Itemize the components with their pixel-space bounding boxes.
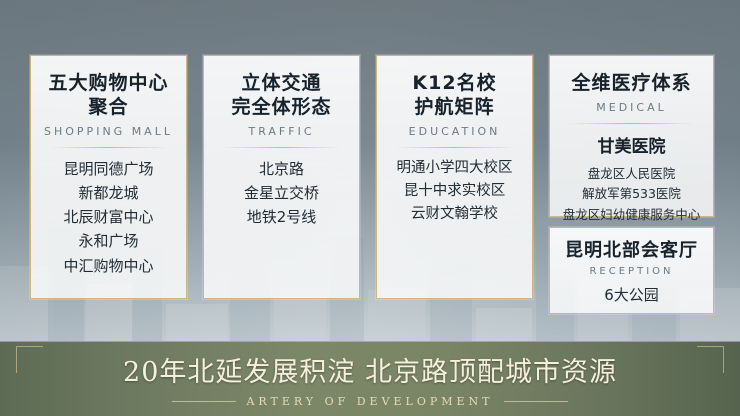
banner-headline: 20年北延发展积淀 北京路顶配城市资源 [123, 350, 617, 389]
card-subtitle-reception: RECEPTION [558, 266, 705, 277]
card-title-line1: 立体交通 [212, 72, 351, 96]
card-items-traffic: 北京路 金星立交桥 地铁2号线 [212, 157, 351, 230]
list-item: 永和广场 [39, 229, 178, 253]
list-item: 盘龙区妇幼健康服务中心 [558, 205, 705, 226]
card-title-line2: 聚合 [39, 96, 178, 120]
card-grid: 五大购物中心 聚合 SHOPPING MALL 昆明同德广场 新都龙城 北辰财富… [0, 0, 740, 345]
card-medical: 全维医疗体系 MEDICAL 甘美医院 盘龙区人民医院 解放军第533医院 盘龙… [549, 55, 714, 217]
list-item: 北辰财富中心 [39, 205, 178, 229]
list-item: 北京路 [212, 157, 351, 181]
card-title-education: K12名校 护航矩阵 [385, 72, 524, 120]
bottom-banner: 20年北延发展积淀 北京路顶配城市资源 ARTERY OF DEVELOPMEN… [0, 341, 740, 416]
list-item: 金星立交桥 [212, 181, 351, 205]
list-item: 昆十中求实校区 [385, 180, 524, 203]
card-subtitle-education: EDUCATION [385, 125, 524, 138]
card-divider [568, 123, 694, 124]
card-items-shopping-mall: 昆明同德广场 新都龙城 北辰财富中心 永和广场 中汇购物中心 [39, 157, 178, 278]
card-items-medical: 甘美医院 盘龙区人民医院 解放军第533医院 盘龙区妇幼健康服务中心 [558, 133, 705, 226]
card-title-line1: 全维医疗体系 [558, 72, 705, 96]
card-title-reception: 昆明北部会客厅 [558, 240, 705, 263]
card-subtitle-medical: MEDICAL [558, 101, 705, 114]
card-highlight-medical: 甘美医院 [558, 133, 705, 161]
card-subtitle-traffic: TRAFFIC [212, 125, 351, 138]
card-title-traffic: 立体交通 完全体形态 [212, 72, 351, 120]
list-item: 昆明同德广场 [39, 157, 178, 181]
list-item: 云财文翰学校 [385, 203, 524, 226]
banner-subtitle-row: ARTERY OF DEVELOPMENT [172, 395, 567, 408]
list-item: 地铁2号线 [212, 205, 351, 229]
list-item: 盘龙区人民医院 [558, 164, 705, 185]
card-items-reception: 6大公园 [558, 283, 705, 307]
banner-corner-left [16, 346, 43, 373]
card-subtitle-shopping-mall: SHOPPING MALL [39, 125, 178, 138]
card-divider [49, 147, 169, 148]
list-item: 中汇购物中心 [39, 254, 178, 278]
card-title-line1: 五大购物中心 [39, 72, 178, 96]
rule-right [504, 401, 568, 402]
card-shopping-mall: 五大购物中心 聚合 SHOPPING MALL 昆明同德广场 新都龙城 北辰财富… [30, 55, 187, 299]
card-divider [395, 147, 515, 148]
banner-subtitle: ARTERY OF DEVELOPMENT [246, 395, 493, 408]
card-traffic: 立体交通 完全体形态 TRAFFIC 北京路 金星立交桥 地铁2号线 [203, 55, 360, 299]
card-title-line1: K12名校 [385, 72, 524, 96]
card-title-line2: 护航矩阵 [385, 96, 524, 120]
card-title-medical: 全维医疗体系 [558, 72, 705, 96]
card-reception: 昆明北部会客厅 RECEPTION 6大公园 [549, 227, 714, 314]
card-items-education: 明通小学四大校区 昆十中求实校区 云财文翰学校 [385, 157, 524, 227]
rule-left [172, 401, 236, 402]
list-item: 明通小学四大校区 [385, 157, 524, 180]
list-item: 解放军第533医院 [558, 184, 705, 205]
list-item: 新都龙城 [39, 181, 178, 205]
card-title-shopping-mall: 五大购物中心 聚合 [39, 72, 178, 120]
poster-root: 五大购物中心 聚合 SHOPPING MALL 昆明同德广场 新都龙城 北辰财富… [0, 0, 740, 416]
card-divider [222, 147, 342, 148]
banner-corner-right [697, 346, 724, 373]
list-item: 6大公园 [558, 283, 705, 307]
card-education: K12名校 护航矩阵 EDUCATION 明通小学四大校区 昆十中求实校区 云财… [376, 55, 533, 299]
card-title-line2: 完全体形态 [212, 96, 351, 120]
